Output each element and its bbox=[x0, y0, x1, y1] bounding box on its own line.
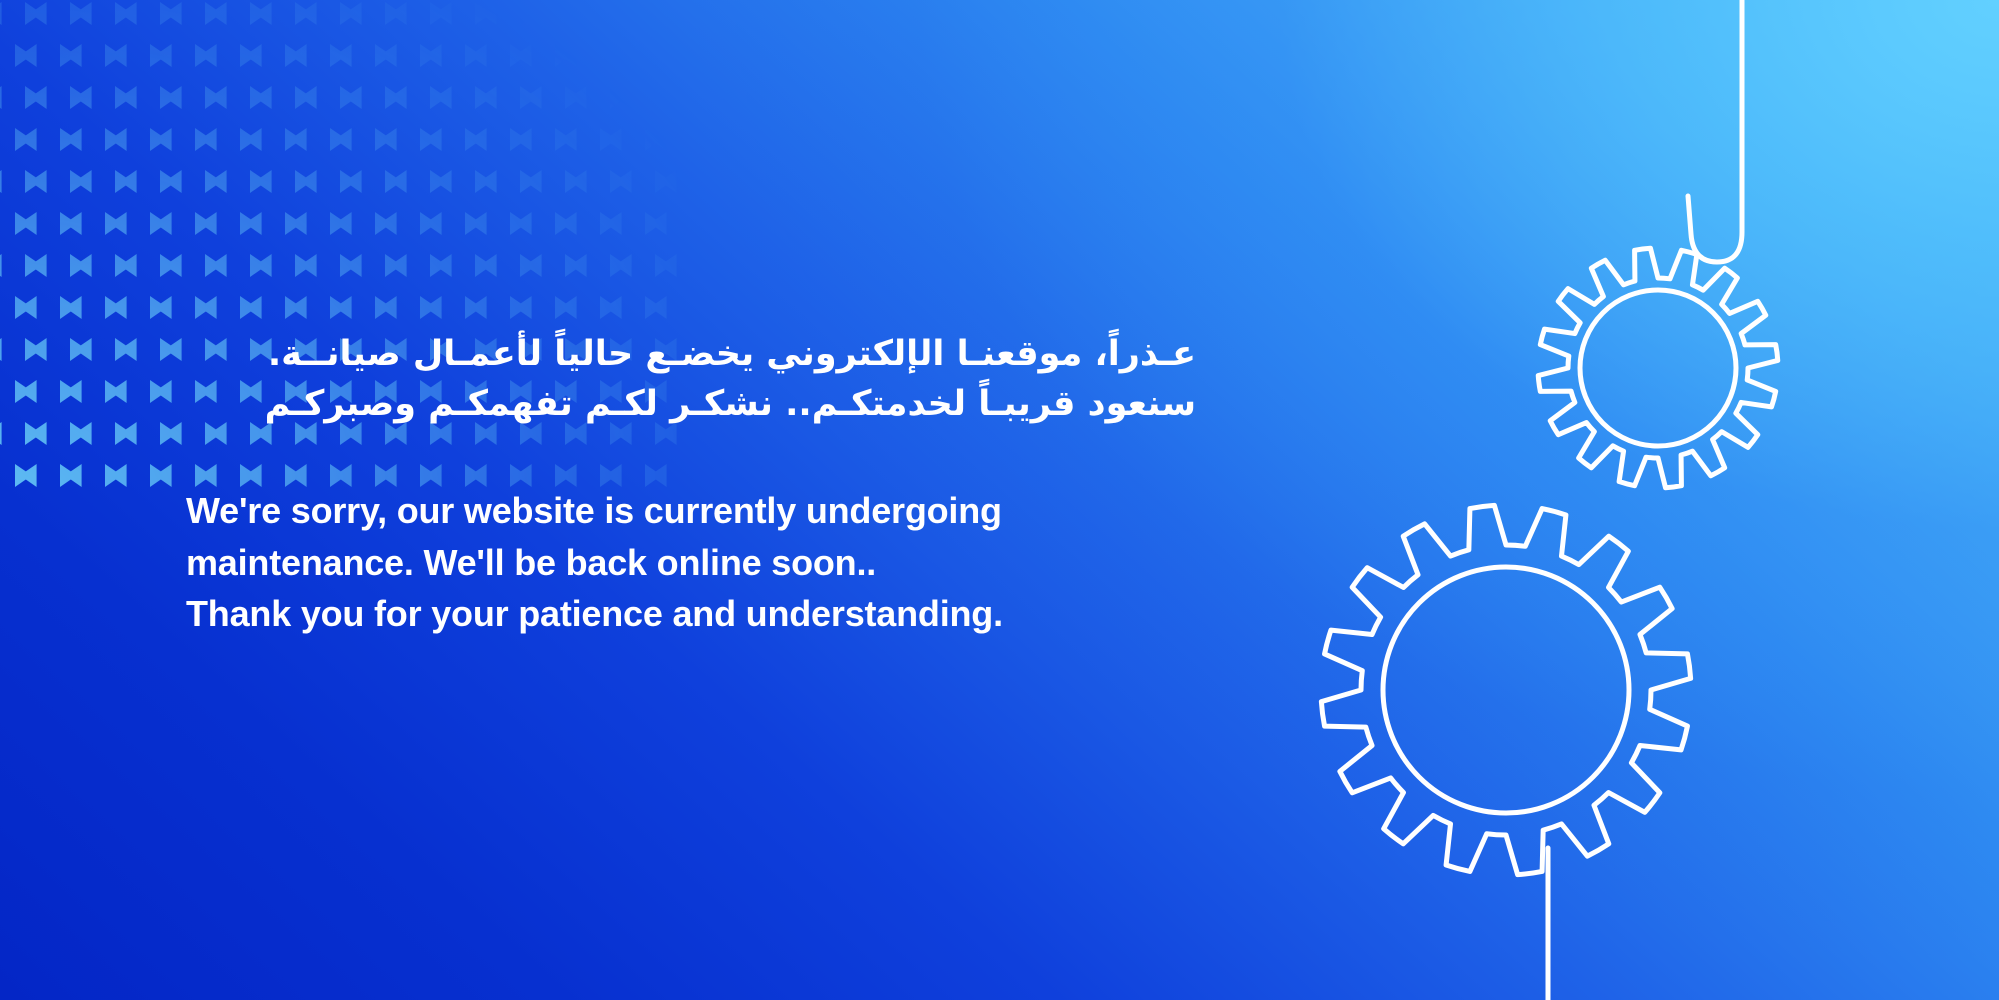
english-line-3: Thank you for your patience and understa… bbox=[186, 588, 1196, 639]
maintenance-page: عـذراً، موقعنـا الإلكتروني يخضـع حالياً … bbox=[0, 0, 1999, 1000]
arabic-paragraph: عـذراً، موقعنـا الإلكتروني يخضـع حالياً … bbox=[186, 330, 1196, 429]
english-line-1: We're sorry, our website is currently un… bbox=[186, 485, 1196, 536]
arabic-line-1: عـذراً، موقعنـا الإلكتروني يخضـع حالياً … bbox=[186, 330, 1196, 380]
small-gear bbox=[1538, 248, 1778, 488]
top-connector-line bbox=[1688, 0, 1742, 262]
arabic-line-2: سنعود قريبـاً لخدمتكـم.. نشكـر لكـم تفهم… bbox=[186, 380, 1196, 430]
english-line-2: maintenance. We'll be back online soon.. bbox=[186, 537, 1196, 588]
maintenance-message: عـذراً، موقعنـا الإلكتروني يخضـع حالياً … bbox=[186, 330, 1196, 640]
large-gear bbox=[1321, 505, 1690, 874]
english-paragraph: We're sorry, our website is currently un… bbox=[186, 485, 1196, 639]
